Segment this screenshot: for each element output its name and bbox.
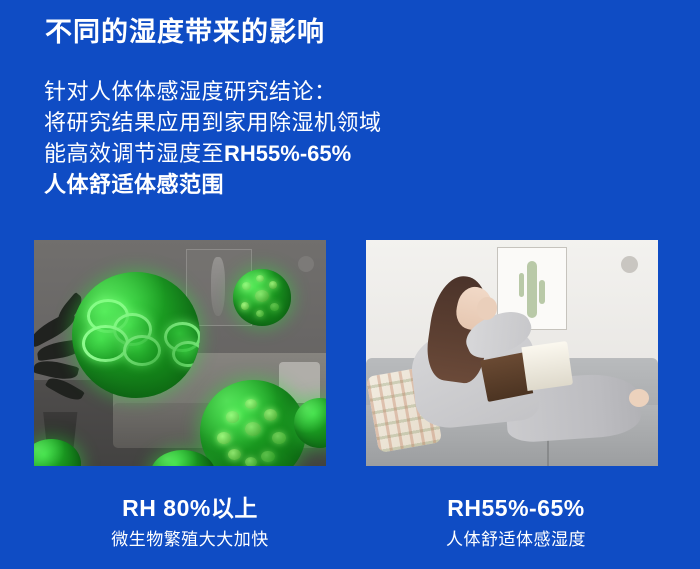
microbe-blob [113, 313, 152, 346]
microbe-sphere-virus [200, 380, 305, 466]
microbe-blob [172, 341, 200, 367]
panel-image-high-humidity [34, 240, 326, 466]
caption-comfort-humidity: RH55%-65% 人体舒适体感湿度 [366, 494, 666, 551]
humidity-infographic-poster: 不同的湿度带来的影响 针对人体体感湿度研究结论： 将研究结果应用到家用除湿机领域… [0, 0, 700, 569]
caption-title: RH 80%以上 [40, 494, 340, 523]
microbe-spike [245, 422, 262, 437]
microbe-sphere-edge [151, 450, 215, 466]
microbe-sphere-edge [34, 439, 81, 466]
body-copy-line-2: 将研究结果应用到家用除湿机领域 [44, 107, 382, 138]
microbe-blob [164, 322, 200, 352]
microbe-spike [261, 451, 275, 462]
microbe-spike [256, 275, 264, 282]
body-copy-line-3-prefix: 能高效调节湿度至 [44, 141, 224, 166]
microbe-blob [82, 325, 129, 363]
humidity-range-value: RH55%-65% [224, 141, 351, 166]
microbe-sphere-edge [294, 398, 326, 448]
microbe-spike [245, 399, 258, 409]
caption-subtitle: 人体舒适体感湿度 [366, 529, 666, 551]
page-title: 不同的湿度带来的影响 [45, 16, 325, 48]
microbe-blob [123, 335, 161, 366]
caption-subtitle: 微生物繁殖大大加快 [40, 529, 340, 551]
microbe-spike [264, 409, 278, 420]
microbe-spike [270, 303, 279, 311]
wall-speaker [621, 256, 638, 273]
body-copy-line-3: 能高效调节湿度至RH55%-65% [44, 138, 382, 169]
microbe-spike [226, 411, 240, 422]
microbe-spike [217, 432, 231, 443]
panel-image-comfort-humidity [366, 240, 658, 466]
microbe-spike [269, 281, 278, 289]
microbe-blob [87, 299, 129, 333]
body-copy-line-1: 针对人体体感湿度研究结论： [44, 76, 382, 107]
caption-title: RH55%-65% [366, 494, 666, 523]
body-copy-line-4: 人体舒适体感范围 [44, 169, 382, 200]
microbe-spike [256, 310, 264, 317]
bright-living-room-scene [366, 240, 658, 466]
book-page-right [521, 342, 572, 392]
microbe-spike [255, 290, 269, 302]
microbe-spike [272, 432, 286, 443]
microbe-sphere-small [233, 269, 291, 326]
microbe-spike [242, 282, 251, 290]
microbe-spike [241, 302, 250, 310]
microbe-spike [228, 449, 242, 460]
caption-high-humidity: RH 80%以上 微生物繁殖大大加快 [40, 494, 340, 551]
dark-living-room-scene [34, 240, 326, 466]
body-copy: 针对人体体感湿度研究结论： 将研究结果应用到家用除湿机领域 能高效调节湿度至RH… [44, 76, 382, 200]
microbe-spike [245, 457, 258, 466]
cactus-artwork [527, 261, 538, 318]
microbe-sphere-large [72, 272, 200, 399]
